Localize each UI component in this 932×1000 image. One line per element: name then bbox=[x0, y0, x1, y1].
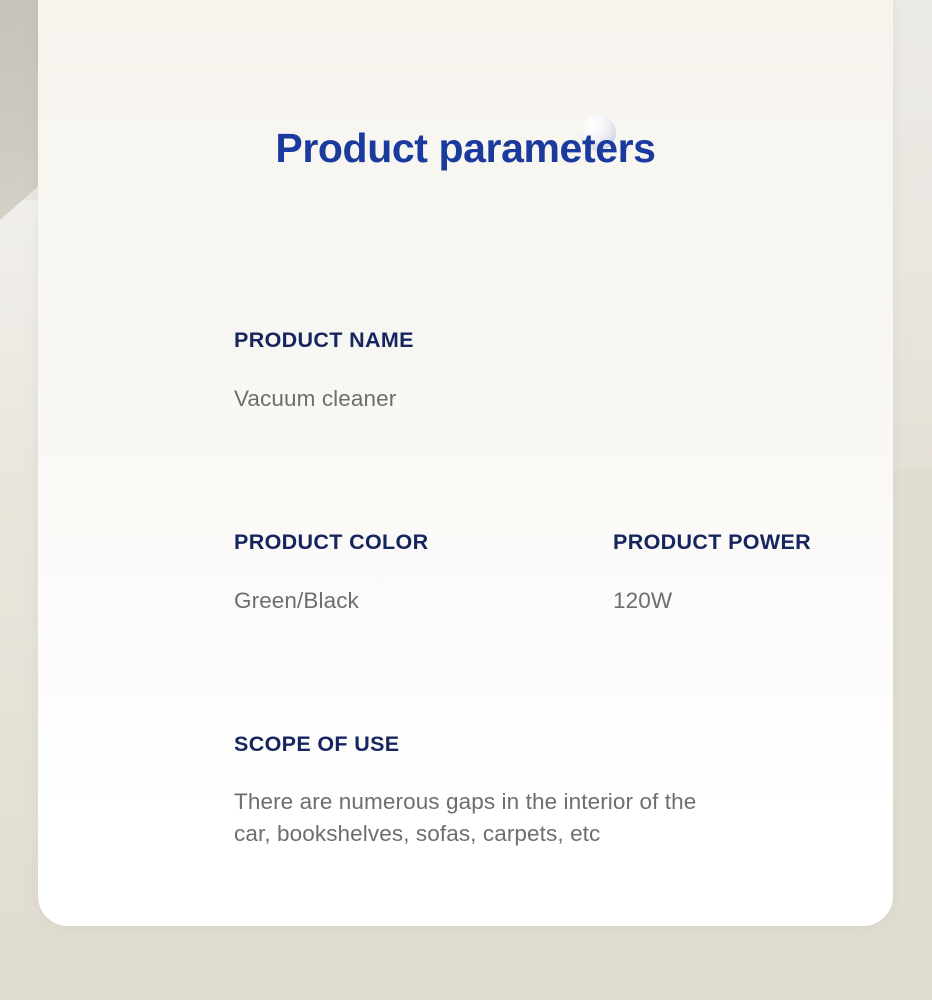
spec-value-product-power: 120W bbox=[613, 585, 874, 618]
backdrop-left-lower-band bbox=[0, 200, 40, 930]
spec-label-product-color: PRODUCT COLOR bbox=[234, 532, 613, 554]
spec-column-product-power: PRODUCT POWER 120W bbox=[613, 532, 874, 617]
page-title: Product parameters bbox=[38, 128, 893, 169]
spec-value-product-color: Green/Black bbox=[234, 585, 613, 618]
spec-value-scope-line-1: There are numerous gaps in the interior … bbox=[234, 786, 839, 819]
spec-value-product-name: Vacuum cleaner bbox=[234, 383, 414, 416]
spec-row-scope-of-use: SCOPE OF USE There are numerous gaps in … bbox=[234, 734, 854, 851]
backdrop-left-wedge bbox=[0, 0, 40, 220]
spec-label-scope-of-use: SCOPE OF USE bbox=[234, 734, 854, 756]
spec-row-color-power: PRODUCT COLOR Green/Black PRODUCT POWER … bbox=[234, 532, 874, 617]
spec-value-scope-line-2: car, bookshelves, sofas, carpets, etc bbox=[234, 818, 839, 851]
spec-row-product-name: PRODUCT NAME Vacuum cleaner bbox=[234, 330, 414, 415]
spec-column-product-color: PRODUCT COLOR Green/Black bbox=[234, 532, 613, 617]
spec-label-product-name: PRODUCT NAME bbox=[234, 330, 414, 352]
spec-label-product-power: PRODUCT POWER bbox=[613, 532, 874, 554]
product-parameters-card: Product parameters PRODUCT NAME Vacuum c… bbox=[38, 0, 893, 926]
card-header: Product parameters bbox=[38, 0, 893, 290]
spec-value-scope-of-use: There are numerous gaps in the interior … bbox=[234, 786, 839, 851]
